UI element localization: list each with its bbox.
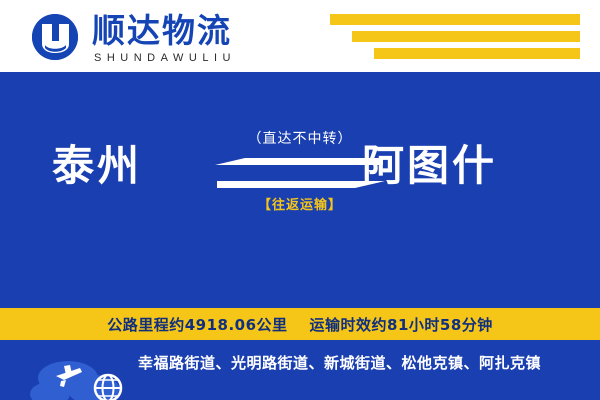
double-arrow-icon [215, 156, 385, 190]
poster-body: 泰州 （直达不中转） 【往返运输】 阿图什 公路里程约4918.06公里 运输时… [0, 72, 600, 400]
coverage-areas: 幸福路街道、光明路街道、新城街道、松他克镇、阿扎克镇 [138, 350, 568, 376]
header-stripe-2 [352, 31, 580, 42]
distance-text: 公路里程约4918.06公里 [107, 314, 287, 335]
info-bar: 公路里程约4918.06公里 运输时效约81小时58分钟 [0, 308, 600, 340]
duration-text: 运输时效约81小时58分钟 [310, 314, 493, 335]
destination-city: 阿图什 [362, 140, 497, 192]
poster-header: 顺达物流 SHUNDAWULIU [0, 0, 600, 72]
header-stripe-1 [330, 14, 580, 25]
logistics-route-poster: 顺达物流 SHUNDAWULIU 泰州 （直达不中转） 【往返运输】 阿图什 [0, 0, 600, 400]
route-section: 泰州 （直达不中转） 【往返运输】 阿图什 [0, 122, 600, 232]
header-stripe-3 [374, 48, 580, 59]
logo-arrow-icon [32, 14, 78, 60]
truck-plane-globe-icon [28, 348, 132, 400]
brand-name-cn: 顺达物流 [92, 13, 232, 49]
return-note: 【往返运输】 [200, 194, 400, 213]
brand-name-en: SHUNDAWULIU [94, 52, 236, 64]
coverage-section: 幸福路街道、光明路街道、新城街道、松他克镇、阿扎克镇 [0, 340, 600, 400]
origin-city: 泰州 [52, 140, 142, 192]
